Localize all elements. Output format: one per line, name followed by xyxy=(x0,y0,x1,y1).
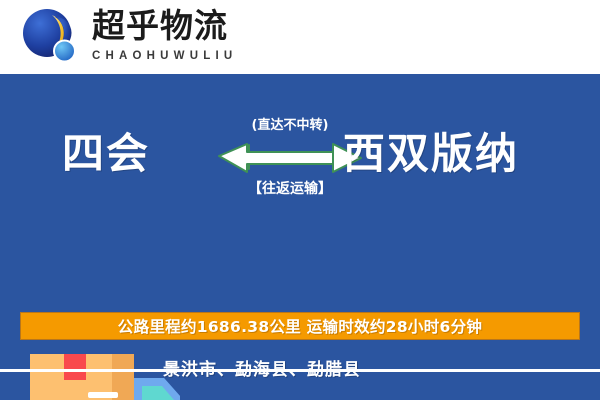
bottom-divider xyxy=(0,369,600,372)
logistics-route-poster: 超乎物流 CHAOHUWULIU 四会 (直达不中转) xyxy=(0,0,600,400)
main-blue-panel: 四会 (直达不中转) 【往返运输】 西双版纳 xyxy=(0,74,600,400)
delivery-truck-icon xyxy=(24,350,189,400)
header-bar: 超乎物流 CHAOHUWULIU xyxy=(0,0,600,74)
circle-crescent-logo-icon xyxy=(22,8,80,66)
orange-speed-stripes-icon xyxy=(340,0,600,74)
origin-city-label: 四会 xyxy=(62,126,150,182)
route-info-bar: 公路里程约1686.38公里 运输时效约28小时6分钟 xyxy=(20,312,580,340)
covered-areas-label: 景洪市、勐海县、勐腊县 xyxy=(163,355,361,380)
brand-text-block: 超乎物流 CHAOHUWULIU xyxy=(92,6,237,64)
route-info-text: 公路里程约1686.38公里 运输时效约28小时6分钟 xyxy=(118,315,482,337)
destination-city-label: 西双版纳 xyxy=(343,126,519,182)
brand-name-cn: 超乎物流 xyxy=(92,6,237,46)
route-row: 四会 (直达不中转) 【往返运输】 西双版纳 xyxy=(0,110,600,210)
brand-name-en: CHAOHUWULIU xyxy=(92,48,237,64)
